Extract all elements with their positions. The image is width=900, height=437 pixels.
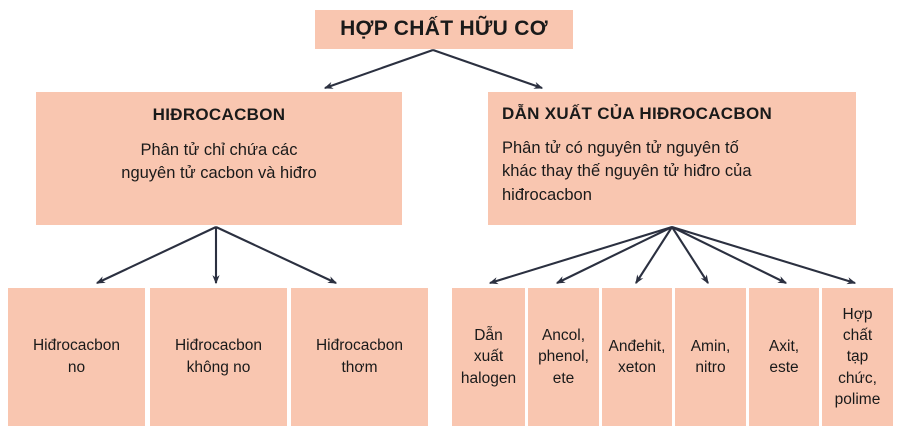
leaf-line: phenol, [531,346,596,367]
arrow-derivative-to-leaf-5 [672,227,855,283]
arrow-derivative-to-leaf-1 [557,227,672,283]
leaf-node-hidrocacbon-khong-no: Hiđrocacbon không no [150,288,287,426]
arrow-root-to-derivative [433,50,542,88]
arrow-hydrocarbon-to-leaf-0 [97,227,216,283]
leaf-line: Anđehit, [605,336,669,357]
leaf-line: Hiđrocacbon [154,335,283,357]
description-line: Phân tử chỉ chứa các [50,139,388,162]
branch-node-dan-xuat-cua-hidrocacbon: DẪN XUẤT CỦA HIĐROCACBON Phân tử có nguy… [488,92,856,225]
leaf-node-ancol-phenol-ete: Ancol, phenol, ete [528,288,599,426]
leaf-line: không no [154,357,283,379]
leaf-line: Axit, [752,336,816,357]
leaf-line: Ancol, [531,325,596,346]
leaf-line: Hiđrocacbon [12,335,141,357]
leaf-line: tạp [825,346,890,367]
leaf-line: Dẫn [455,325,522,346]
leaf-line: xeton [605,357,669,378]
leaf-node-hidrocacbon-no: Hiđrocacbon no [8,288,145,426]
branch-node-dan-xuat-title: DẪN XUẤT CỦA HIĐROCACBON [502,103,842,125]
branch-node-hidrocacbon: HIĐROCACBON Phân tử chỉ chứa các nguyên … [36,92,402,225]
arrow-hydrocarbon-to-leaf-2 [216,227,336,283]
branch-node-hidrocacbon-description: Phân tử chỉ chứa các nguyên tử cacbon và… [50,139,388,186]
description-line: Phân tử có nguyên tử nguyên tố [502,137,842,160]
leaf-line: halogen [455,368,522,389]
leaf-node-axit-este: Axit, este [749,288,819,426]
branch-node-dan-xuat-description: Phân tử có nguyên tử nguyên tố khác thay… [502,137,842,207]
leaf-line: nitro [678,357,743,378]
arrow-derivative-to-leaf-3 [672,227,708,283]
branch-node-hidrocacbon-title: HIĐROCACBON [50,104,388,126]
leaf-line: chức, [825,368,890,389]
root-node-hop-chat-huu-co: HỢP CHẤT HỮU CƠ [315,10,573,49]
description-line: nguyên tử cacbon và hiđro [50,162,388,185]
leaf-line: Hiđrocacbon [295,335,424,357]
arrow-derivative-to-leaf-4 [672,227,786,283]
leaf-node-dan-xuat-halogen: Dẫn xuất halogen [452,288,525,426]
root-node-label: HỢP CHẤT HỮU CƠ [315,16,573,43]
arrow-root-to-hydrocarbon [325,50,433,88]
description-line: hiđrocacbon [502,184,842,207]
leaf-line: este [752,357,816,378]
leaf-line: polime [825,389,890,410]
leaf-line: chất [825,325,890,346]
leaf-line: thơm [295,357,424,379]
leaf-line: no [12,357,141,379]
leaf-node-andehit-xeton: Anđehit, xeton [602,288,672,426]
arrow-derivative-to-leaf-0 [490,227,672,283]
description-line: khác thay thế nguyên tử hiđro của [502,160,842,183]
arrow-derivative-to-leaf-2 [636,227,672,283]
leaf-line: ete [531,368,596,389]
organic-compound-classification-diagram: HỢP CHẤT HỮU CƠ HIĐROCACBON Phân tử chỉ … [0,0,900,437]
leaf-node-hidrocacbon-thom: Hiđrocacbon thơm [291,288,428,426]
leaf-line: Hợp [825,304,890,325]
leaf-node-amin-nitro: Amin, nitro [675,288,746,426]
leaf-line: Amin, [678,336,743,357]
leaf-line: xuất [455,346,522,367]
leaf-node-hop-chat-tap-chuc-polime: Hợp chất tạp chức, polime [822,288,893,426]
